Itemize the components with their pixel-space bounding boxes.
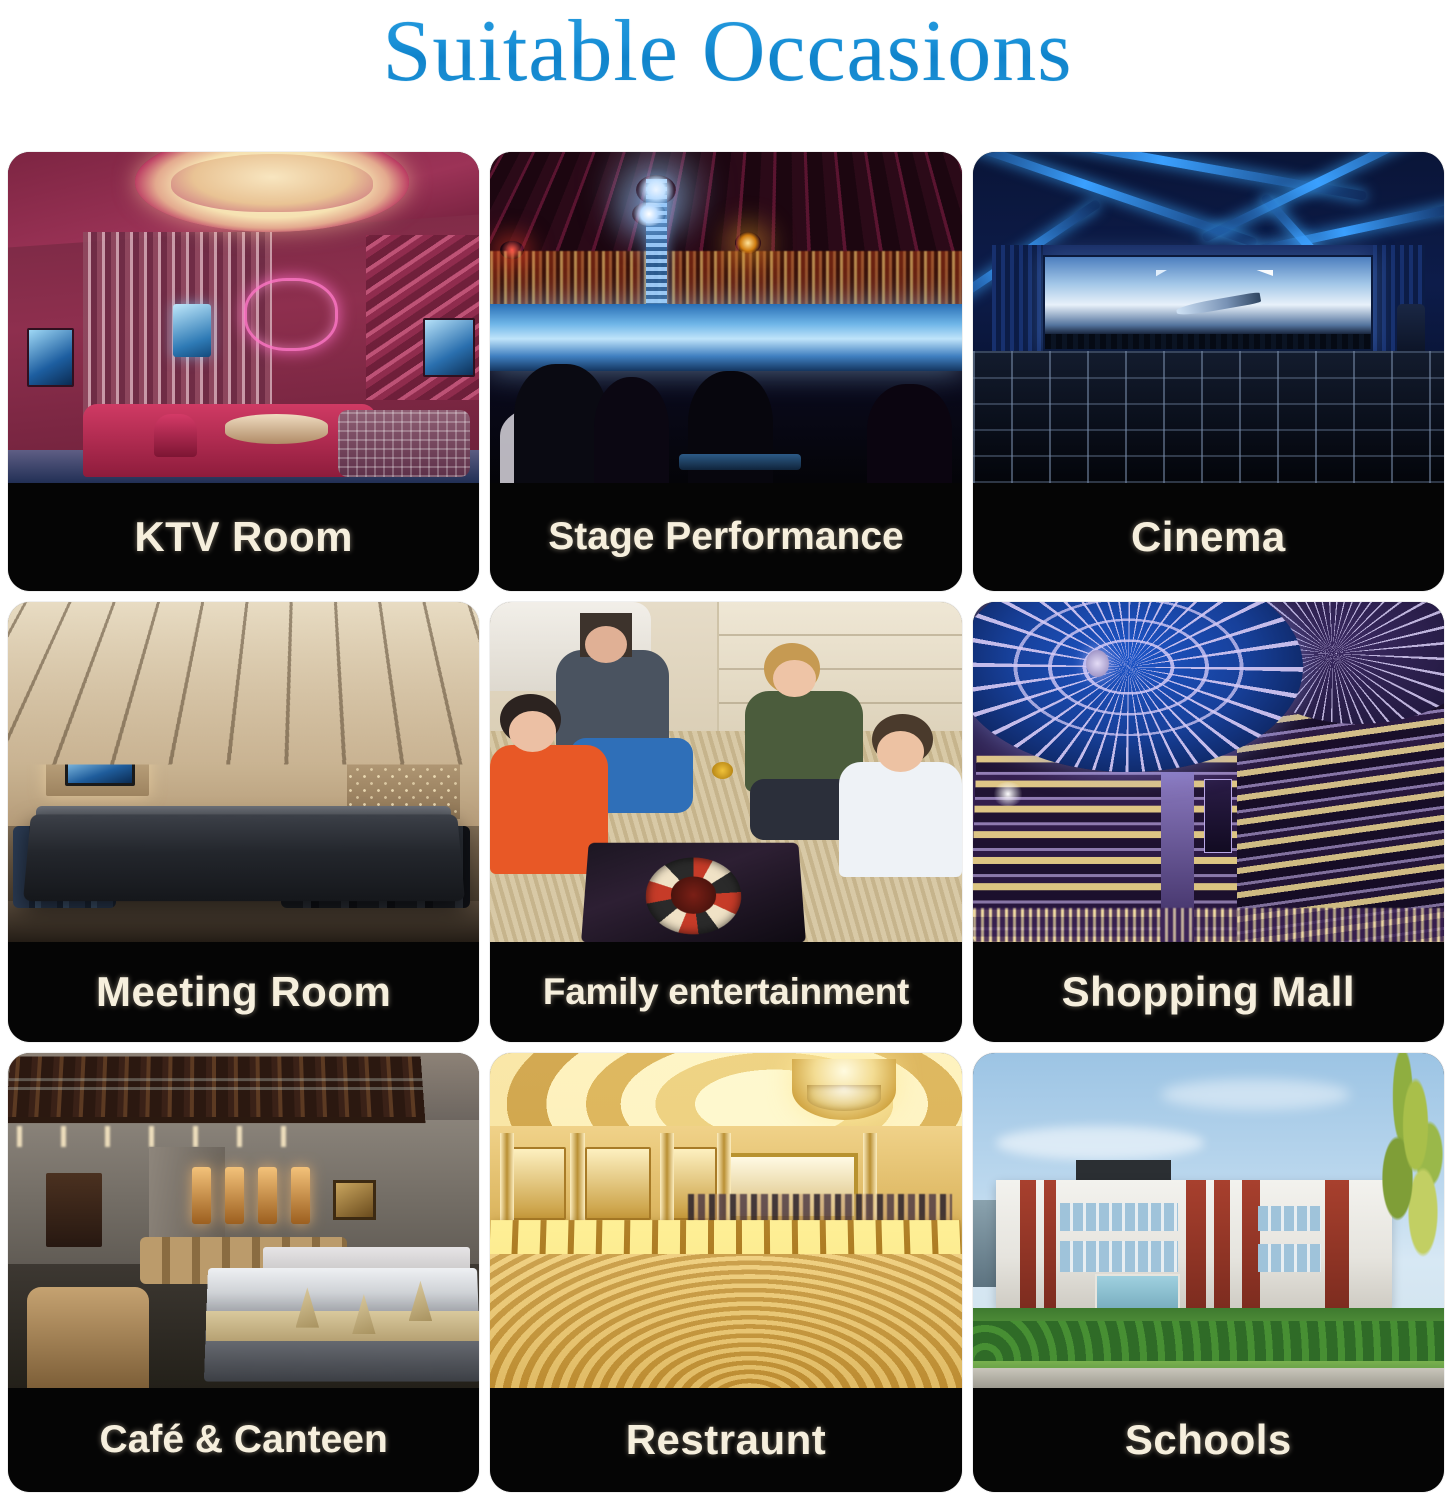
ktv-room-image [8,152,479,483]
page-title: Suitable Occasions [0,0,1455,99]
cinema-image [973,152,1444,483]
restaurant-image [490,1053,961,1388]
occasion-caption-meeting-room: Meeting Room [8,942,479,1042]
occasion-caption-shopping-mall: Shopping Mall [973,942,1444,1042]
occasion-card-cinema[interactable]: Cinema [973,152,1444,591]
occasion-card-schools[interactable]: Schools [973,1053,1444,1492]
occasion-card-restaurant[interactable]: Restraunt [490,1053,961,1492]
occasion-caption-cafe-canteen: Café & Canteen [8,1388,479,1492]
occasion-card-meeting-room[interactable]: Meeting Room [8,602,479,1041]
schools-image [973,1053,1444,1388]
occasion-card-stage-performance[interactable]: Stage Performance [490,152,961,591]
occasion-card-ktv-room[interactable]: KTV Room [8,152,479,591]
occasion-caption-family-entertainment: Family entertainment [490,942,961,1042]
occasion-card-family-entertainment[interactable]: Family entertainment [490,602,961,1041]
meeting-room-image [8,602,479,941]
occasion-caption-schools: Schools [973,1388,1444,1492]
occasion-caption-cinema: Cinema [973,483,1444,591]
occasion-caption-ktv-room: KTV Room [8,483,479,591]
occasion-caption-stage-performance: Stage Performance [490,483,961,591]
family-entertainment-image [490,602,961,941]
occasions-grid: KTV Room Stage Performance [8,152,1444,1492]
occasion-card-cafe-canteen[interactable]: Café & Canteen [8,1053,479,1492]
occasion-caption-restaurant: Restraunt [490,1388,961,1492]
stage-performance-image [490,152,961,483]
occasion-card-shopping-mall[interactable]: Shopping Mall [973,602,1444,1041]
shopping-mall-image [973,602,1444,941]
cafe-canteen-image [8,1053,479,1388]
